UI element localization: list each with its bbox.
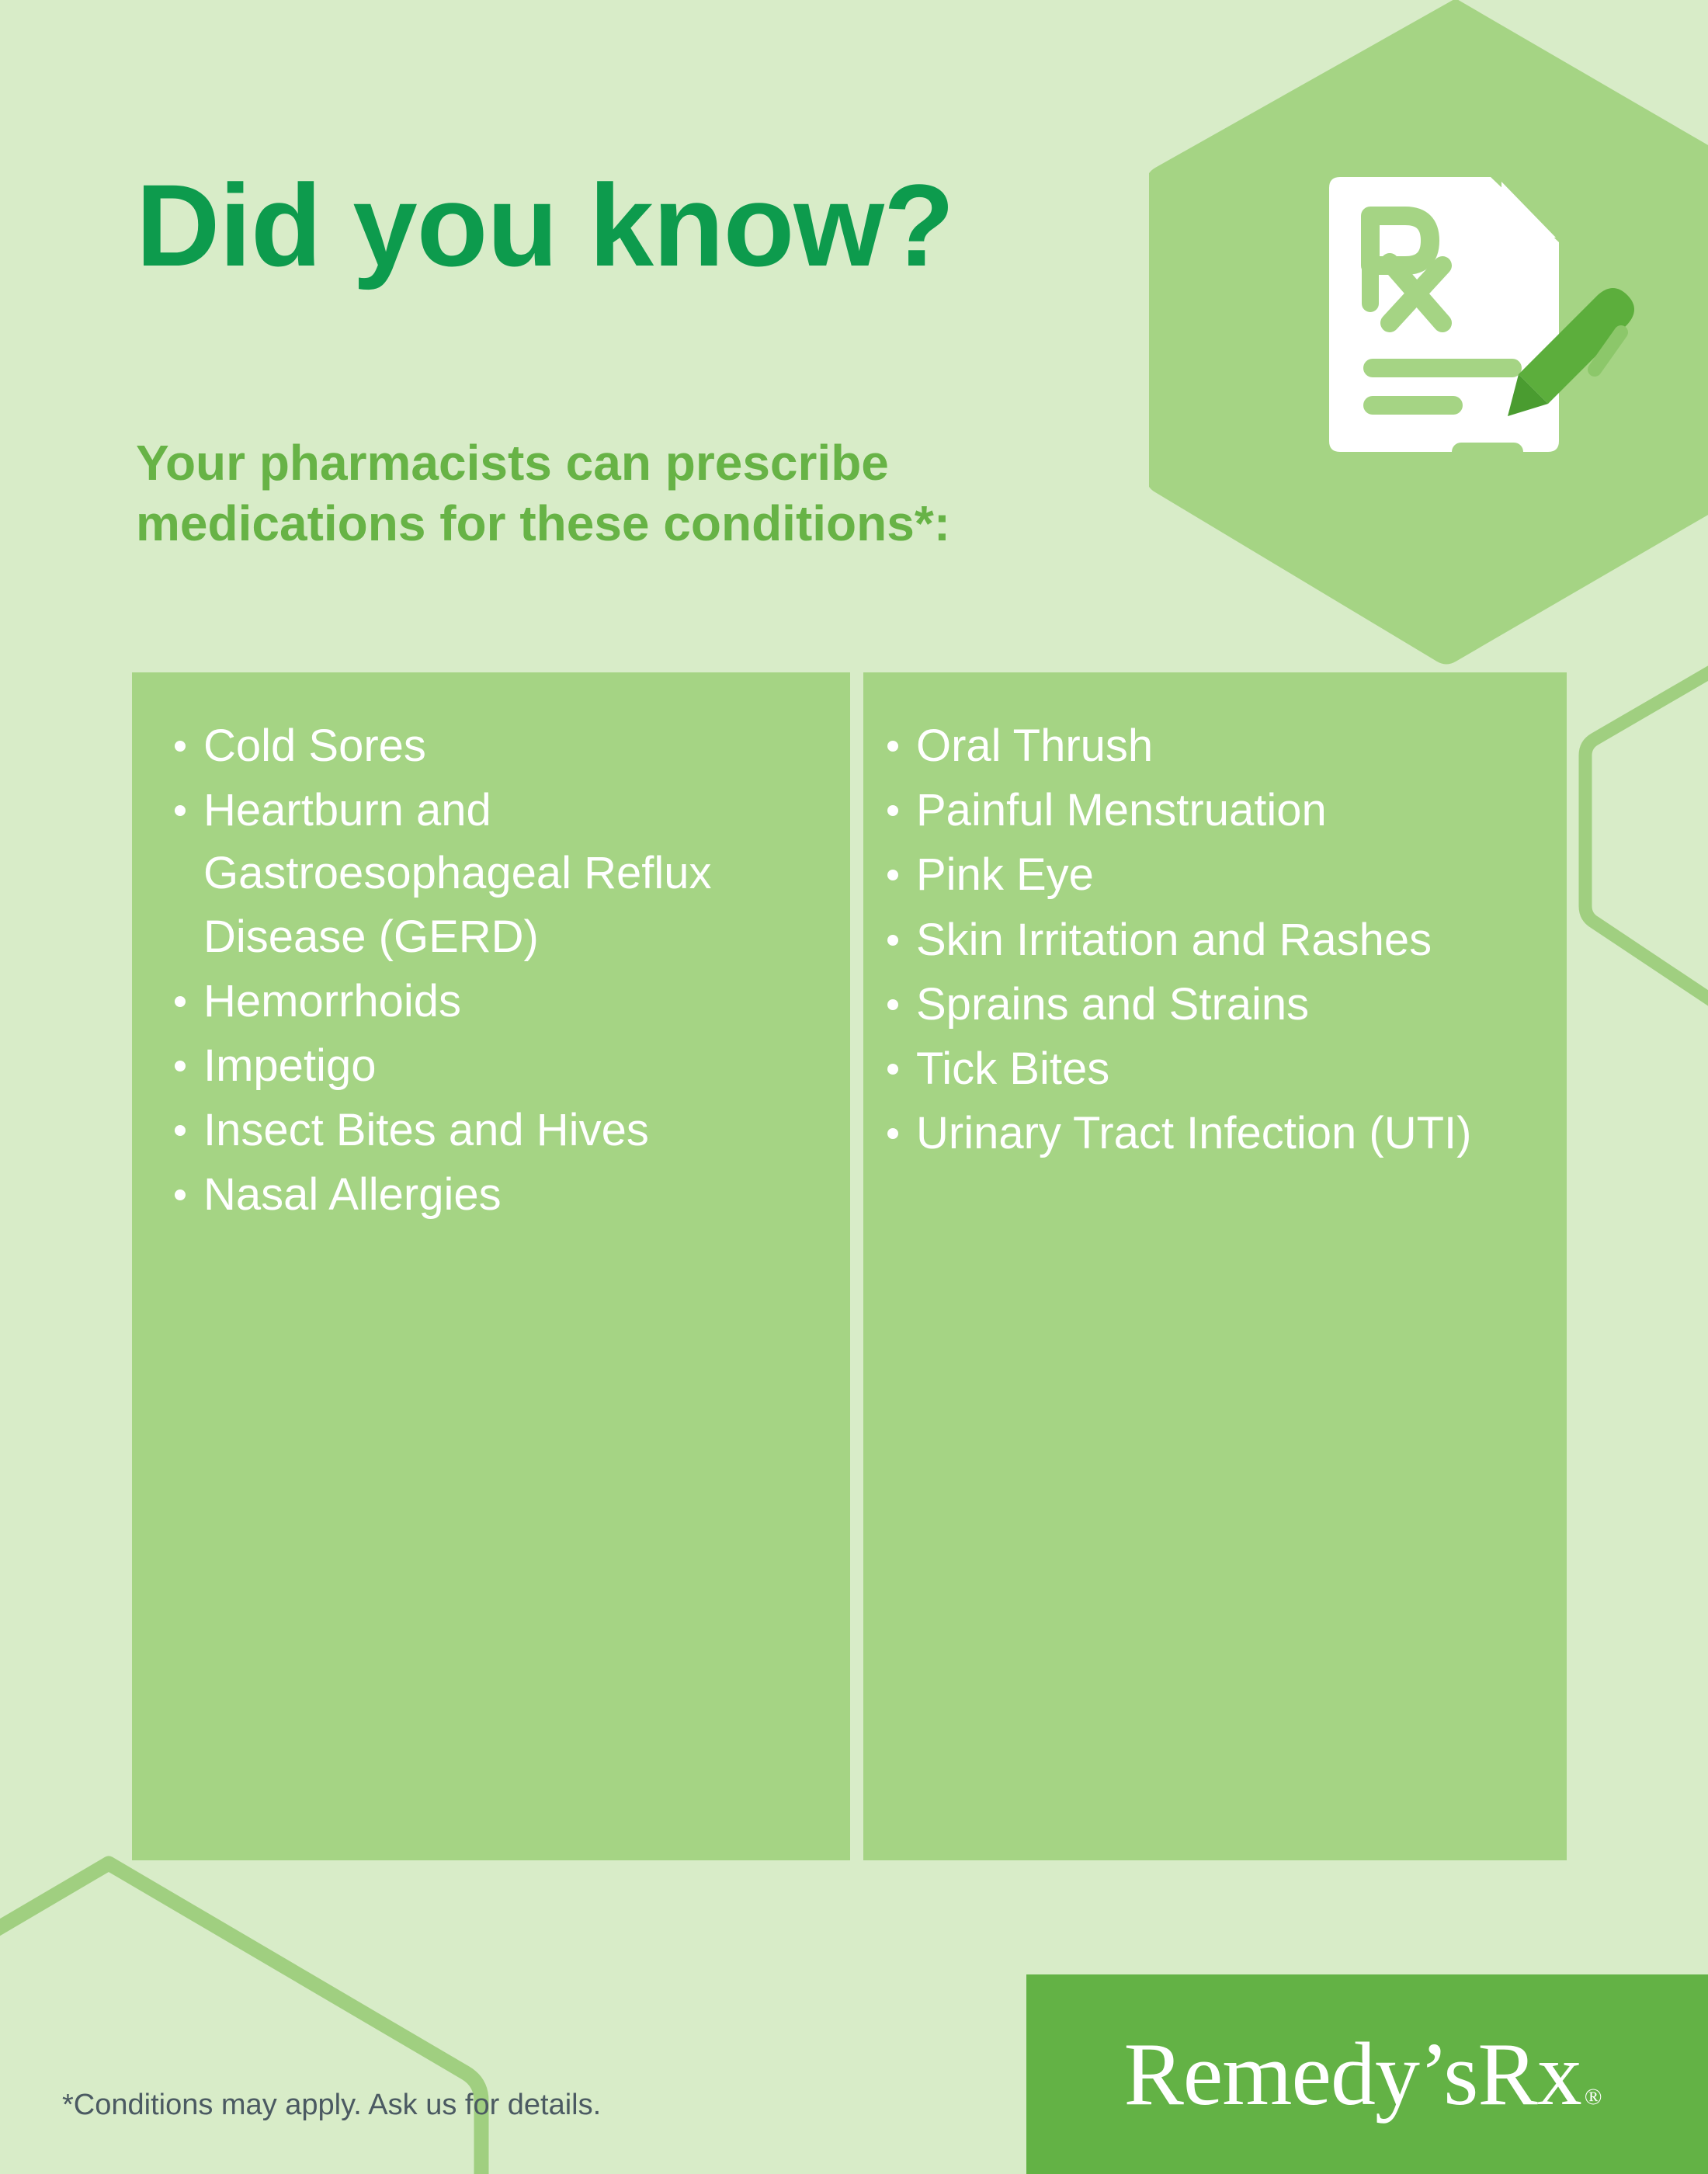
list-item: Tick Bites [863,1037,1567,1100]
list-item: Oral Thrush [863,714,1567,777]
conditions-panel-right: Oral Thrush Painful Menstruation Pink Ey… [863,672,1567,1860]
page-title: Did you know? [136,167,954,283]
hexagon-outline-right [1576,644,1708,1017]
hexagon-background-shape [1149,0,1708,668]
registered-trademark-icon: ® [1585,2084,1602,2110]
rx-symbol [1362,216,1379,312]
list-item: Painful Menstruation [863,779,1567,842]
list-item: Hemorrhoids [132,970,850,1033]
list-item: Urinary Tract Infection (UTI) [863,1102,1567,1165]
list-item: Heartburn and Gastroesophageal Reflux Di… [132,779,850,968]
brand-wordmark: Remedy’sRx® [1123,2030,1598,2120]
hexagon-outline-bottom-left [0,1848,497,2174]
document-line-1 [1363,359,1522,377]
footnote-text: *Conditions may apply. Ask us for detail… [62,2089,601,2122]
list-item: Sprains and Strains [863,973,1567,1036]
page-subtitle: Your pharmacists can prescribe medicatio… [136,432,1130,554]
poster-canvas: Did you know? Your pharmacists can presc… [0,0,1708,2174]
brand-wordmark-text: Remedy’sRx [1123,2025,1581,2124]
prescription-document-icon [1312,148,1646,489]
brand-logo-block: Remedy’sRx® [1026,1974,1708,2174]
conditions-panel-left: Cold Sores Heartburn and Gastroesophagea… [132,672,850,1860]
list-item: Cold Sores [132,714,850,777]
conditions-list-left: Cold Sores Heartburn and Gastroesophagea… [132,672,850,1227]
conditions-list-right: Oral Thrush Painful Menstruation Pink Ey… [863,672,1567,1165]
document-line-2 [1363,396,1463,415]
list-item: Nasal Allergies [132,1163,850,1226]
pencil-icon [1508,288,1634,416]
list-item: Insect Bites and Hives [132,1099,850,1162]
list-item: Pink Eye [863,843,1567,906]
list-item: Impetigo [132,1034,850,1097]
signature-line [1452,443,1523,461]
list-item: Skin Irritation and Rashes [863,908,1567,971]
